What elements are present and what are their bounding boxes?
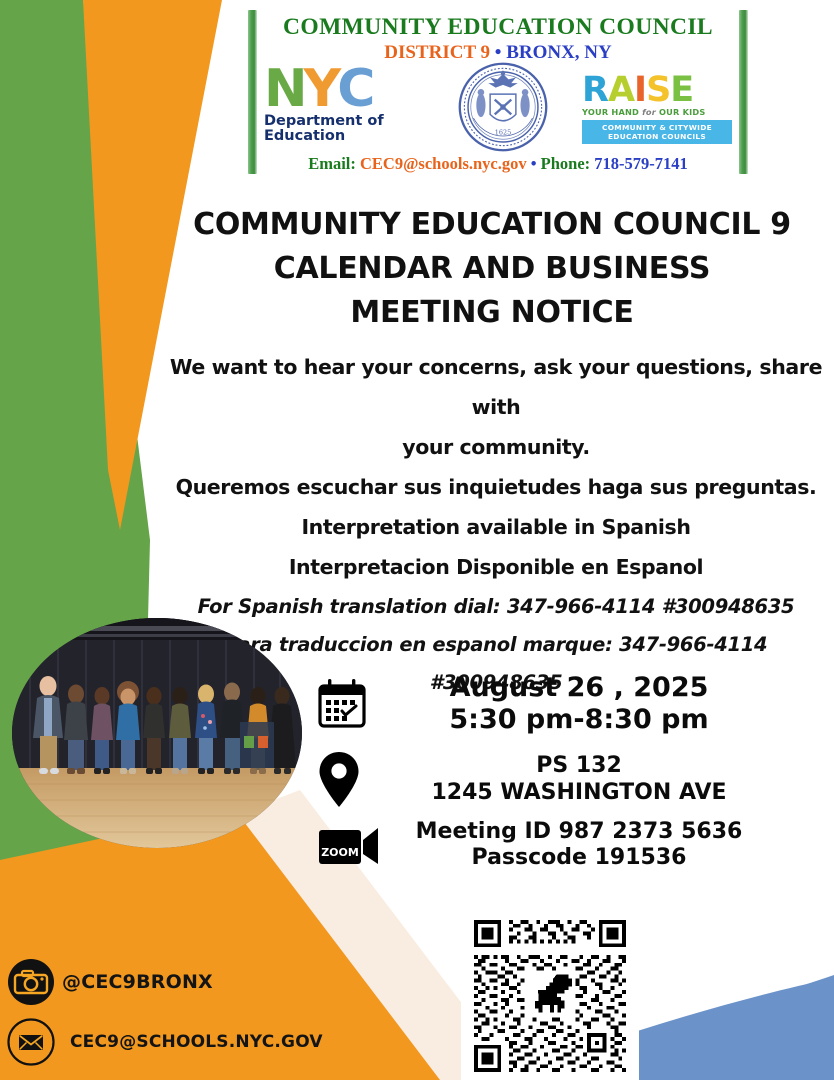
- banner-right-green-bar: [739, 10, 748, 174]
- detail-row-date: August 26 , 2025 5:30 pm-8:30 pm: [318, 672, 778, 737]
- banner-title: COMMUNITY EDUCATION COUNCIL: [262, 14, 734, 41]
- camera-icon[interactable]: [4, 958, 58, 1006]
- banner-contact-line: Email: CEC9@schools.nyc.gov • Phone: 718…: [262, 154, 734, 174]
- doe-line-2: Education: [264, 129, 424, 144]
- headline-line-3: MEETING NOTICE: [150, 291, 834, 335]
- zoom-passcode: Passcode 191536: [380, 845, 778, 871]
- raise-box-line-2: EDUCATION COUNCILS: [584, 132, 730, 141]
- banner-phone-label: Phone:: [541, 154, 591, 173]
- raise-letter-r: R: [582, 76, 608, 106]
- nyc-city-seal-icon: 1625: [457, 61, 549, 153]
- raise-letter-i: I: [634, 76, 646, 106]
- dinosaur-logo-icon: [525, 971, 576, 1018]
- calendar-icon: [318, 679, 380, 729]
- raise-tagline-pre: YOUR HAND: [582, 107, 639, 117]
- nyc-letter-n: N: [264, 69, 304, 111]
- logo-row: N Y C Department of Education: [264, 62, 732, 152]
- raise-wordmark: R A I S E: [582, 70, 732, 106]
- body-line-1: We want to hear your concerns, ask your …: [158, 348, 834, 428]
- location-pin-icon: [318, 751, 380, 809]
- email-row[interactable]: CEC9@SCHOOLS.NYC.GOV: [4, 1018, 334, 1066]
- meeting-details: August 26 , 2025 5:30 pm-8:30 pm PS 132 …: [318, 672, 778, 884]
- zoom-meeting-id: Meeting ID 987 2373 5636: [380, 819, 778, 845]
- banner-separator: •: [495, 42, 502, 63]
- banner-email-label: Email:: [308, 154, 356, 173]
- nyc-letter-c: C: [337, 69, 371, 111]
- doe-wordmark: Department of Education: [264, 114, 424, 145]
- instagram-handle[interactable]: @CEC9BRONX: [62, 971, 213, 993]
- headline-line-1: COMMUNITY EDUCATION COUNCIL 9: [150, 203, 834, 247]
- raise-tagline: YOUR HAND for OUR KIDS: [582, 107, 732, 117]
- banner-contact-separator: •: [531, 154, 537, 173]
- group-photo-circle: [12, 618, 302, 848]
- nyc-letter-y: Y: [304, 69, 338, 111]
- page-title: COMMUNITY EDUCATION COUNCIL 9 CALENDAR A…: [150, 203, 834, 334]
- headline-line-2: CALENDAR AND BUSINESS: [150, 247, 834, 291]
- qr-code-with-dinosaur[interactable]: [465, 916, 635, 1076]
- envelope-icon[interactable]: [4, 1018, 58, 1066]
- meeting-venue: PS 132: [380, 753, 778, 779]
- raise-letter-e: E: [670, 76, 693, 106]
- body-line-6: For Spanish translation dial: 347-966-41…: [158, 588, 834, 626]
- body-line-3: Queremos escuchar sus inquietudes haga s…: [158, 468, 834, 508]
- zoom-icon-label: ZOOM: [321, 846, 359, 859]
- doe-line-1: Department of: [264, 114, 424, 129]
- raise-council-box: COMMUNITY & CITYWIDE EDUCATION COUNCILS: [582, 120, 732, 145]
- banner-district: DISTRICT 9: [384, 42, 490, 63]
- raise-tagline-mid: for: [642, 107, 656, 117]
- banner-email-value[interactable]: CEC9@schools.nyc.gov: [360, 154, 527, 173]
- flyer-page: COMMUNITY EDUCATION COUNCIL DISTRICT 9 •…: [0, 0, 834, 1080]
- banner-phone-value[interactable]: 718-579-7141: [594, 154, 688, 173]
- body-copy: We want to hear your concerns, ask your …: [158, 348, 834, 702]
- qr-code[interactable]: [461, 912, 639, 1080]
- detail-text-zoom: Meeting ID 987 2373 5636 Passcode 191536: [380, 819, 778, 872]
- instagram-row[interactable]: @CEC9BRONX: [4, 958, 334, 1006]
- meeting-date: August 26 , 2025: [380, 672, 778, 704]
- banner-borough: BRONX, NY: [506, 42, 612, 63]
- raise-box-line-1: COMMUNITY & CITYWIDE: [584, 123, 730, 132]
- group-photo-illustration: [12, 618, 302, 848]
- detail-row-location: PS 132 1245 WASHINGTON AVE: [318, 751, 778, 809]
- social-contacts: @CEC9BRONX CEC9@SCHOOLS.NYC.GOV: [4, 958, 334, 1078]
- raise-letter-a: A: [608, 76, 634, 106]
- nyc-doe-logo: N Y C Department of Education: [264, 69, 424, 144]
- raise-logo: R A I S E YOUR HAND for OUR KIDS COMMUNI…: [582, 70, 732, 145]
- nyc-wordmark: N Y C: [264, 69, 424, 111]
- detail-text-location: PS 132 1245 WASHINGTON AVE: [380, 753, 778, 806]
- detail-row-zoom: ZOOM Meeting ID 987 2373 5636 Passcode 1…: [318, 819, 778, 872]
- meeting-time: 5:30 pm-8:30 pm: [380, 704, 778, 736]
- contact-email[interactable]: CEC9@SCHOOLS.NYC.GOV: [70, 1032, 323, 1052]
- body-line-5: Interpretacion Disponible en Espanol: [158, 548, 834, 588]
- zoom-video-icon: ZOOM: [318, 824, 380, 866]
- body-line-4: Interpretation available in Spanish: [158, 508, 834, 548]
- body-line-2: your community.: [158, 428, 834, 468]
- raise-tagline-post: OUR KIDS: [659, 107, 705, 117]
- raise-letter-s: S: [646, 76, 670, 106]
- detail-text-date: August 26 , 2025 5:30 pm-8:30 pm: [380, 672, 778, 737]
- banner-left-green-bar: [248, 10, 257, 174]
- meeting-address: 1245 WASHINGTON AVE: [380, 780, 778, 806]
- header-logo-banner: COMMUNITY EDUCATION COUNCIL DISTRICT 9 •…: [248, 4, 748, 182]
